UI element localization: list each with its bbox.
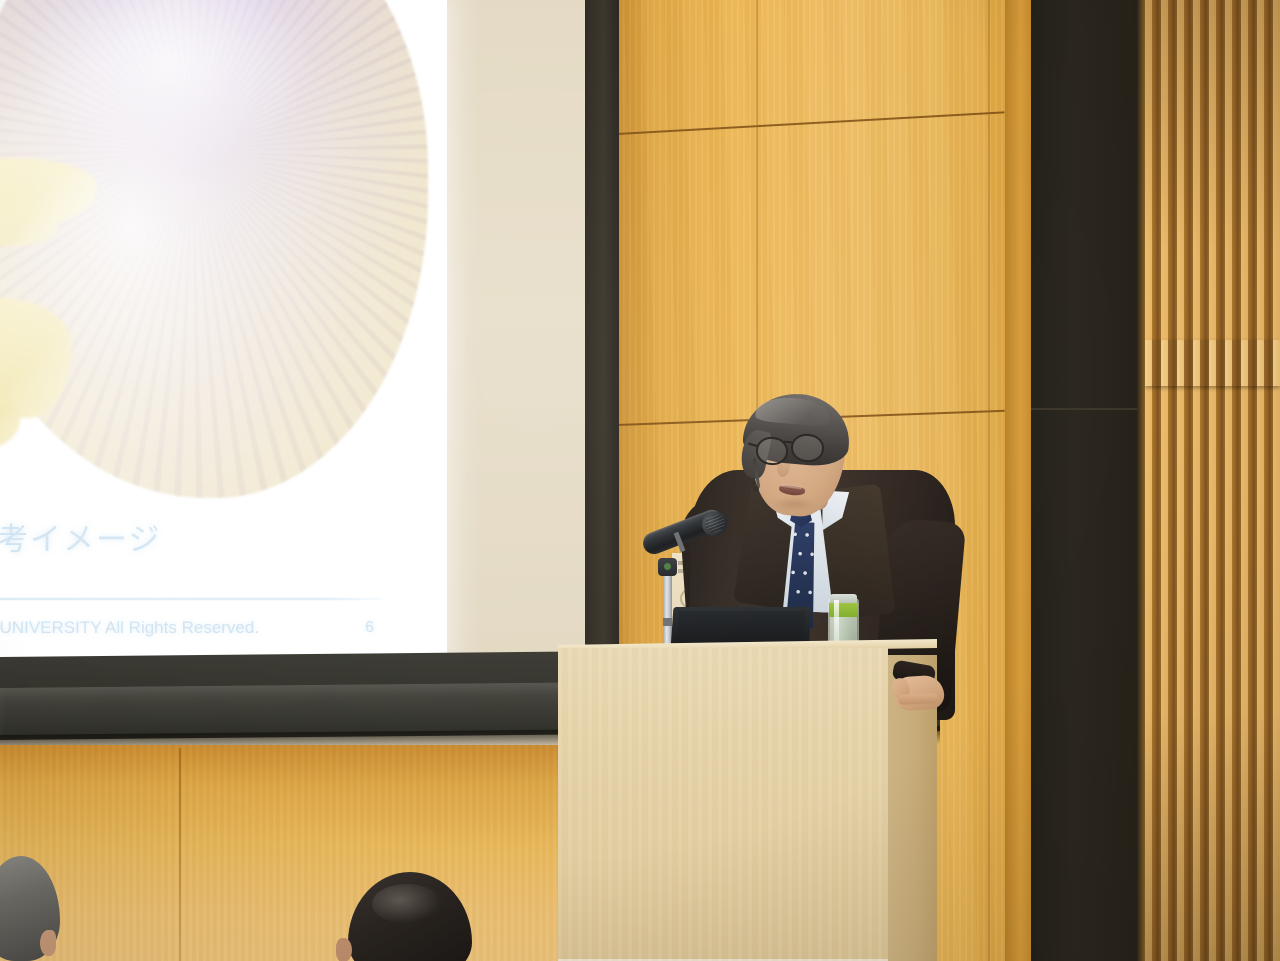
- slide-photo-image: [0, 0, 413, 498]
- wood-vertical-seam-2: [988, 0, 990, 961]
- slat-shading: [1145, 0, 1280, 961]
- speaker-chin-shading: [772, 496, 816, 512]
- lower-wood-grain: [0, 745, 600, 961]
- wooden-slat-screen: [1145, 0, 1280, 961]
- slide-page-number: 6: [365, 619, 388, 637]
- lecture-hall-photo: 参考イメージ OKU UNIVERSITY All Rights Reserve…: [0, 0, 1280, 961]
- audience-ear-gray: [40, 930, 56, 956]
- slide-caption: 参考イメージ: [0, 514, 294, 559]
- audience-hair-highlight: [372, 884, 442, 924]
- slide-copyright-text: OKU UNIVERSITY All Rights Reserved.: [0, 618, 259, 638]
- audience-ear-dark: [336, 938, 352, 961]
- headset-microphone-tip: [753, 486, 759, 492]
- projection-screen: 参考イメージ OKU UNIVERSITY All Rights Reserve…: [0, 0, 447, 657]
- slide-divider-rule: [0, 598, 383, 600]
- slide-footer: OKU UNIVERSITY All Rights Reserved. 6: [0, 618, 388, 638]
- dark-panel-seam: [1031, 408, 1137, 410]
- laptop-screen: [677, 611, 805, 645]
- speaker-fingers: [898, 693, 938, 705]
- lower-wood-seam: [179, 748, 181, 961]
- wood-trim-left-of-dark-panel: [1005, 0, 1031, 961]
- dark-wall-strip: [585, 0, 619, 700]
- microphone-clip-indicator: [664, 563, 671, 570]
- microphone-stand-collar: [663, 618, 672, 626]
- dark-wall-panel: [1031, 0, 1137, 961]
- podium-grain-texture: [558, 648, 888, 961]
